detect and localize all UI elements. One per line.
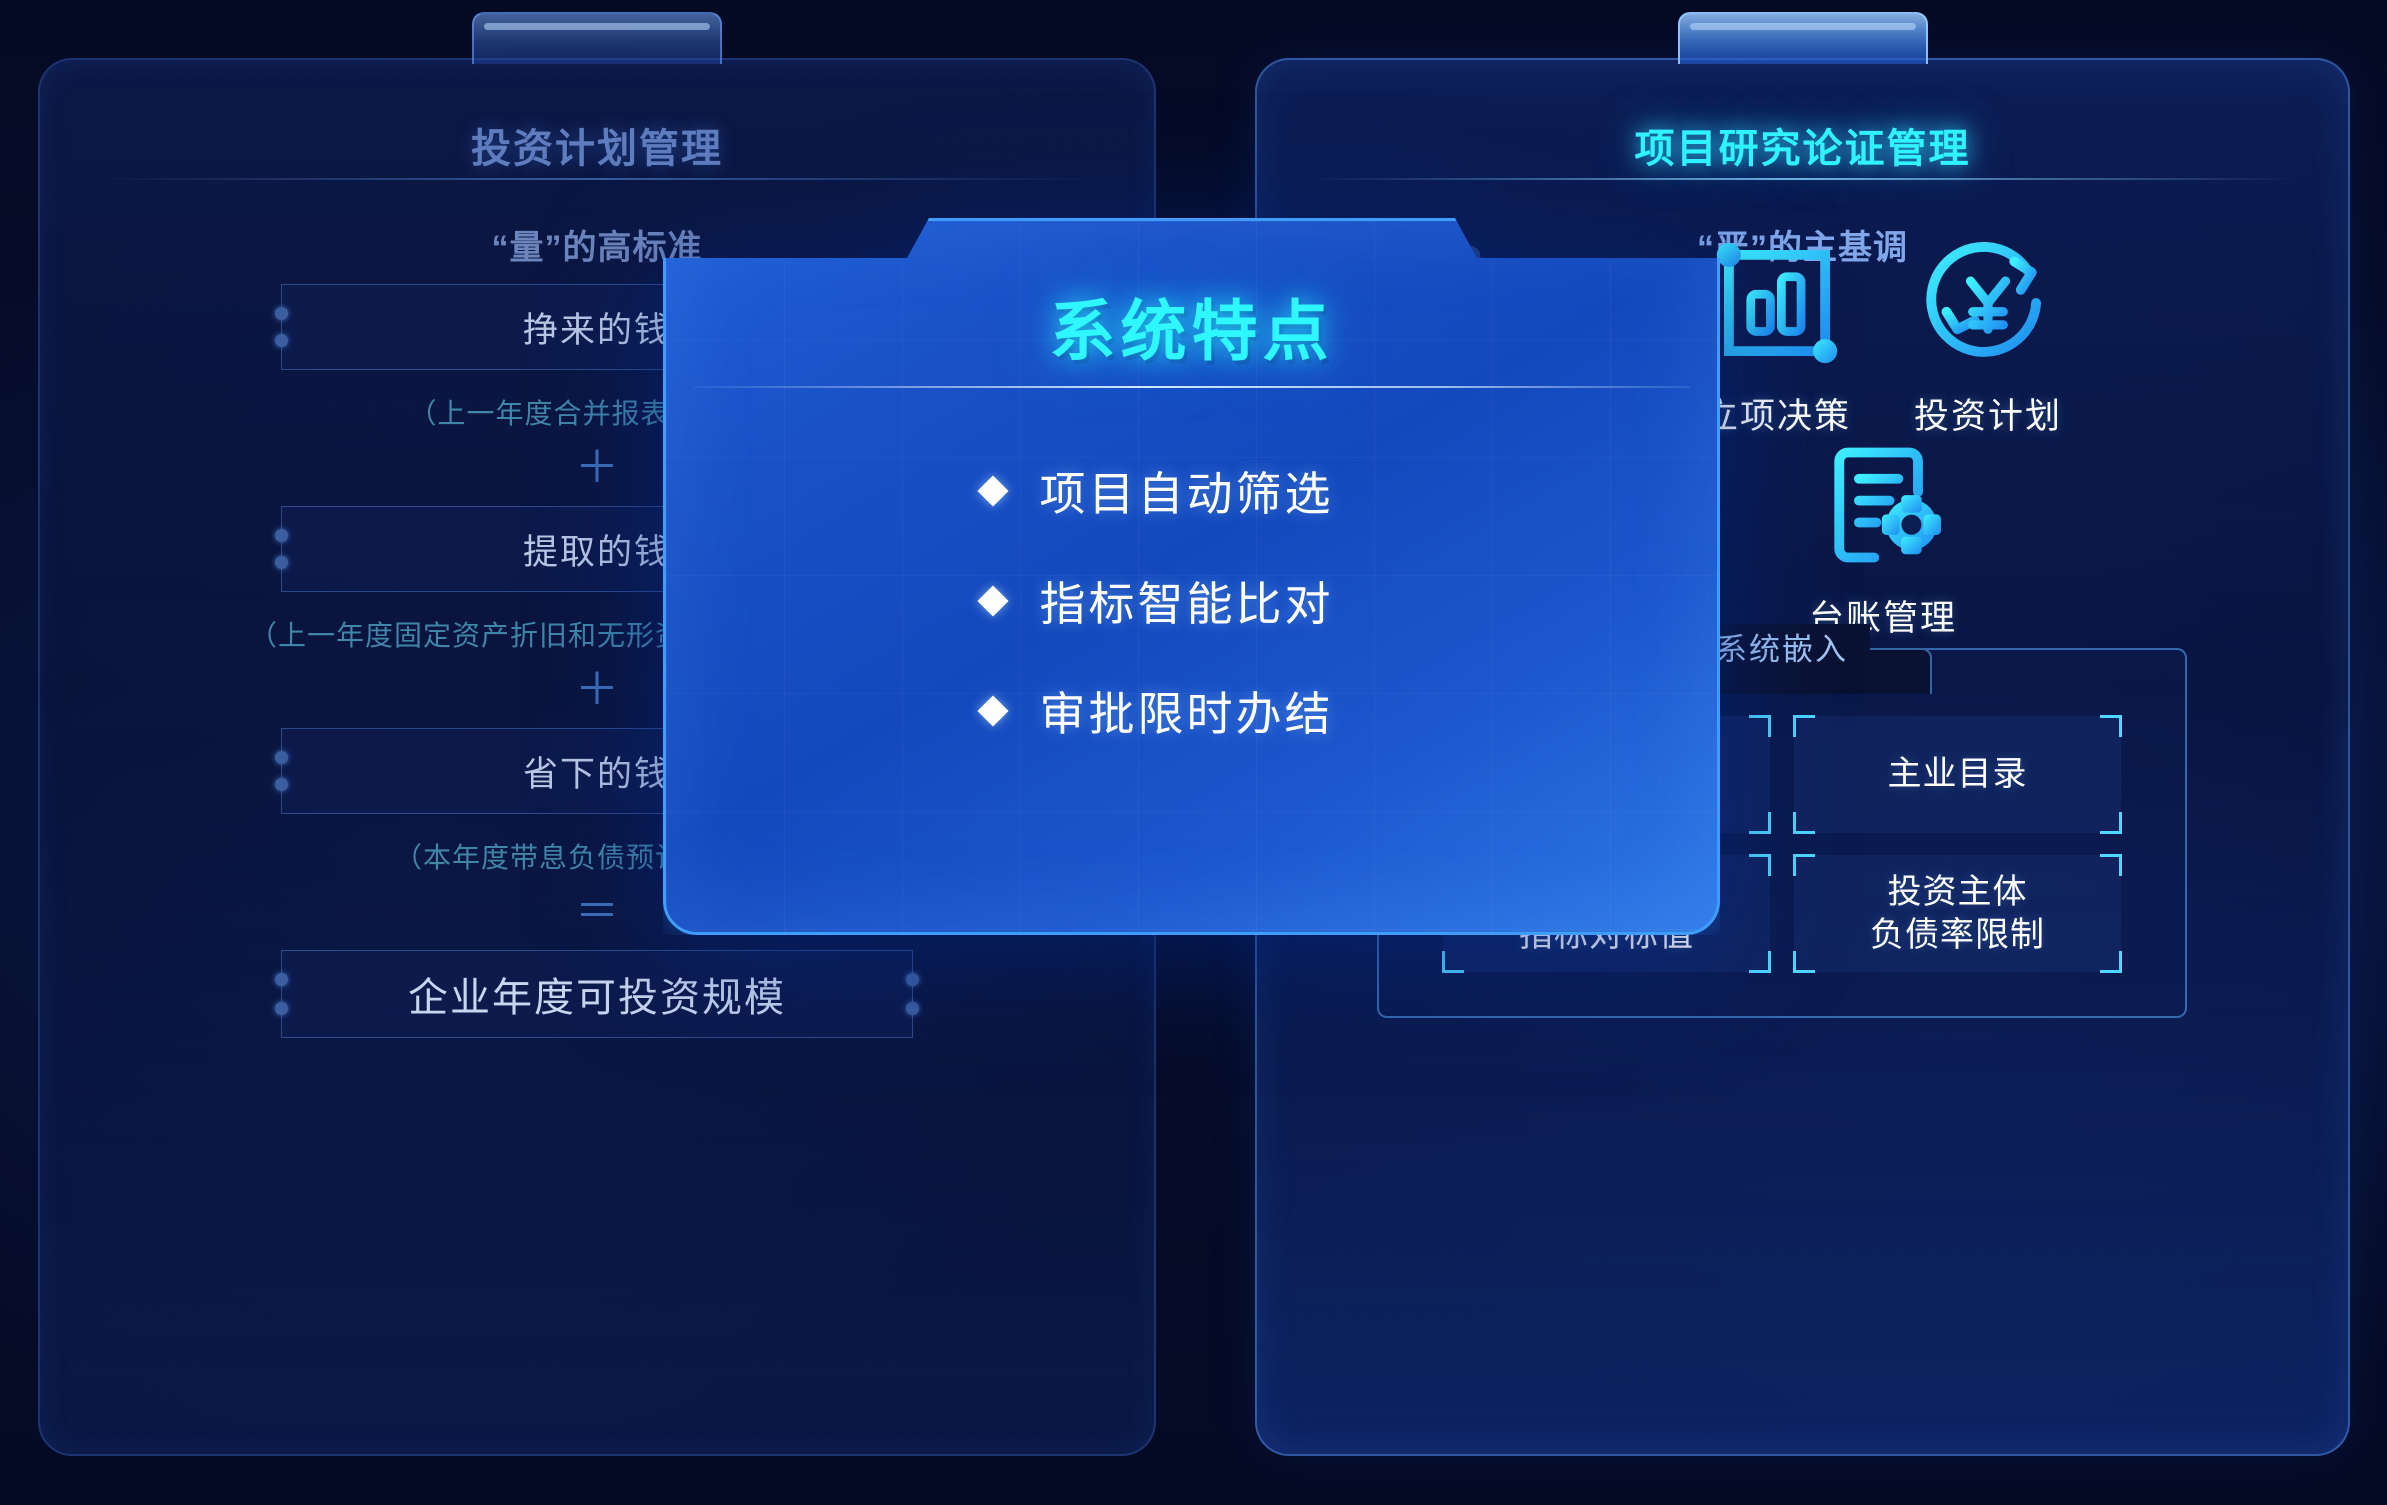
feature-bullet-item: 项目自动筛选 — [982, 458, 1402, 524]
corner-bracket — [1793, 812, 1815, 834]
feature-bullet-item: 审批限时办结 — [982, 678, 1402, 744]
embed-cell-label-line2: 负债率限制 — [1870, 916, 2045, 954]
node-dot — [275, 556, 288, 569]
folder-tab-nub — [1678, 12, 1928, 64]
diamond-bullet-icon — [977, 585, 1008, 616]
card-title: 系统特点 — [663, 278, 1720, 374]
node-dot — [906, 973, 919, 986]
slide-canvas: 投资计划管理 “量”的高标准 挣来的钱 （上一年度合并报表净利润） ＋ 提取的钱… — [0, 0, 2387, 1505]
node-dot — [275, 973, 288, 986]
corner-bracket — [1749, 854, 1771, 876]
feature-bullet-item: 指标智能比对 — [982, 568, 1402, 634]
diamond-bullet-icon — [977, 475, 1008, 506]
corner-bracket — [1793, 951, 1815, 973]
yuan-cycle-icon — [1868, 228, 2108, 378]
corner-bracket — [1442, 951, 1464, 973]
corner-bracket — [1793, 854, 1815, 876]
panel-title-right: 项目研究论证管理 — [1255, 116, 2350, 174]
node-dot — [275, 334, 288, 347]
feature-bullet-label: 指标智能比对 — [1040, 568, 1334, 634]
corner-bracket — [2100, 951, 2122, 973]
feature-icon-plan[interactable]: 投资计划 — [1868, 228, 2108, 439]
corner-bracket — [1749, 951, 1771, 973]
panel-divider-right — [1311, 178, 2294, 180]
system-features-card[interactable]: 系统特点 项目自动筛选 指标智能比对 审批限时办结 — [663, 218, 1720, 935]
formula-box-label: 省下的钱 — [523, 746, 671, 797]
node-dot — [275, 778, 288, 791]
node-dot — [275, 529, 288, 542]
node-dot — [275, 1002, 288, 1015]
feature-bullet-label: 审批限时办结 — [1040, 678, 1334, 744]
corner-bracket — [2100, 715, 2122, 737]
node-dot — [906, 1002, 919, 1015]
embed-cell-label: 主业目录 — [1888, 753, 2028, 796]
feature-bullet-list: 项目自动筛选 指标智能比对 审批限时办结 — [663, 458, 1720, 788]
corner-bracket — [1749, 715, 1771, 737]
node-dot — [275, 307, 288, 320]
folder-tab-nub — [472, 12, 722, 64]
panel-divider-left — [94, 178, 1100, 180]
node-dot — [275, 751, 288, 764]
formula-box-label: 提取的钱 — [523, 524, 671, 575]
corner-bracket — [2100, 854, 2122, 876]
embed-cell-label-line1: 投资主体 — [1888, 873, 2028, 911]
card-divider — [693, 386, 1690, 388]
formula-box-label: 企业年度可投资规模 — [408, 965, 786, 1023]
diamond-bullet-icon — [977, 695, 1008, 726]
corner-bracket — [1749, 812, 1771, 834]
ledger-gear-icon — [1763, 430, 2003, 580]
system-embed-label: 系统嵌入 — [1694, 624, 1870, 669]
feature-bullet-label: 项目自动筛选 — [1040, 458, 1334, 524]
panel-title-left: 投资计划管理 — [38, 116, 1156, 174]
embed-cell-main-catalog[interactable]: 主业目录 — [1794, 716, 2121, 833]
formula-box-total[interactable]: 企业年度可投资规模 — [281, 950, 913, 1038]
corner-bracket — [2100, 812, 2122, 834]
feature-icon-ledger[interactable]: 台账管理 — [1763, 430, 2003, 641]
corner-bracket — [1793, 715, 1815, 737]
embed-cell-investor-debt-limit[interactable]: 投资主体 负债率限制 — [1794, 855, 2121, 972]
formula-box-label: 挣来的钱 — [523, 302, 671, 353]
